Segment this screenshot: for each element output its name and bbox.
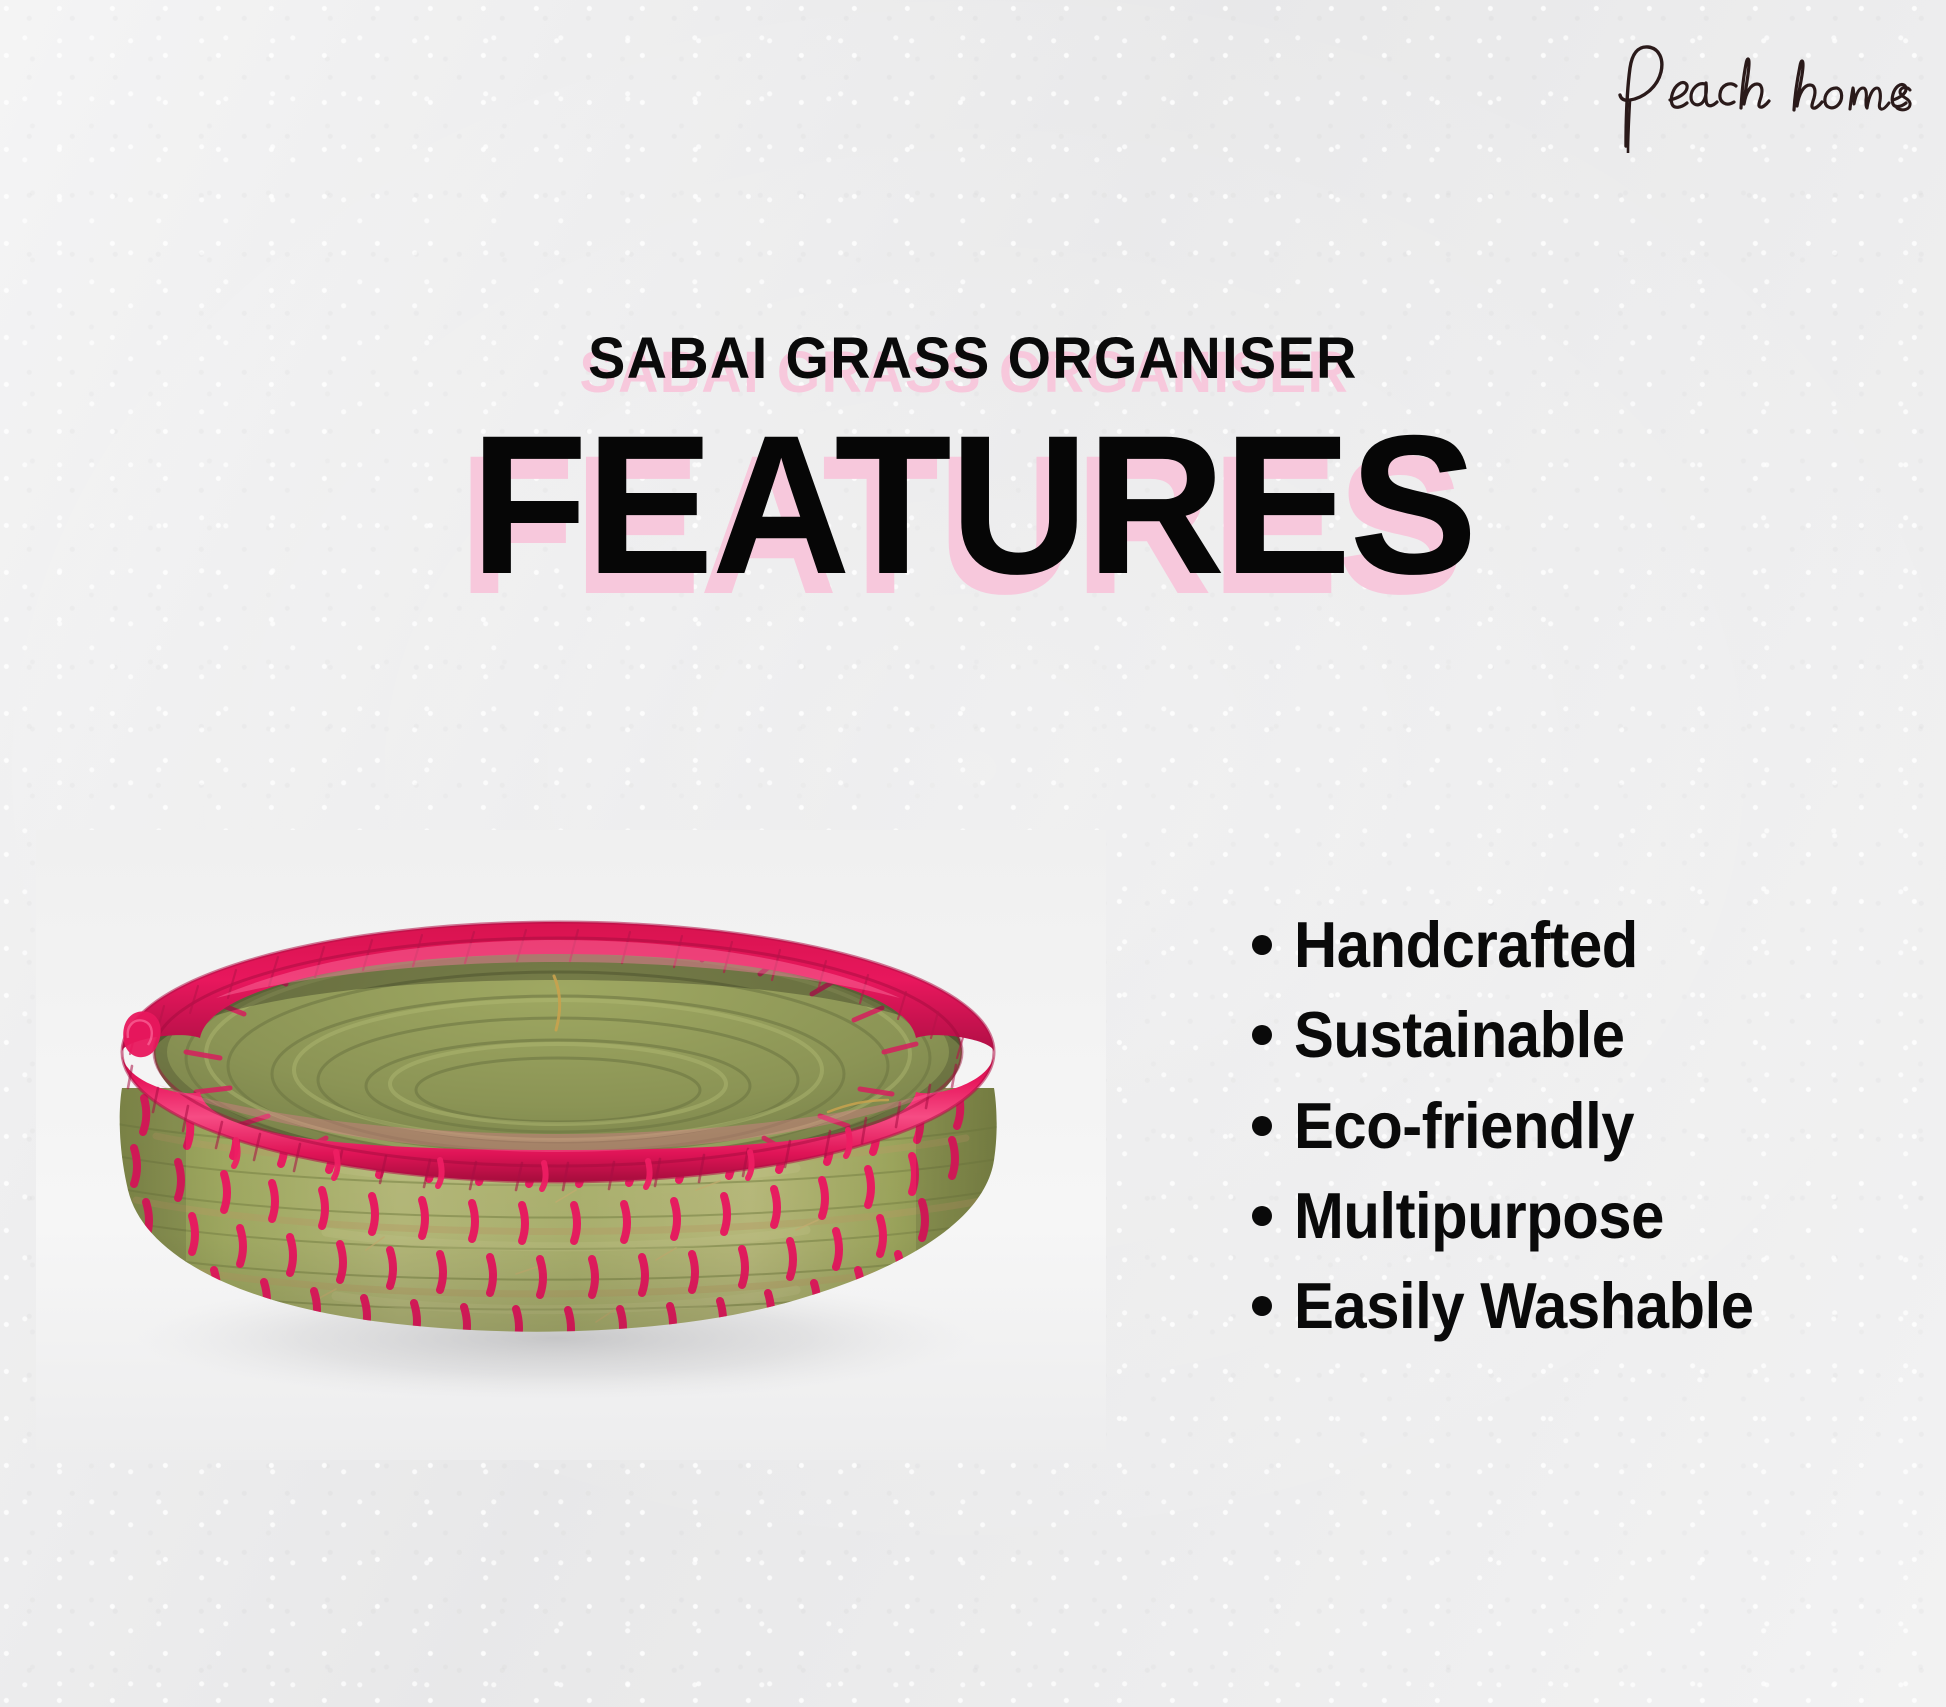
brand-logo bbox=[1586, 38, 1916, 153]
feature-label: Multipurpose bbox=[1294, 1183, 1664, 1249]
feature-label: Sustainable bbox=[1294, 1002, 1625, 1068]
feature-label: Eco-friendly bbox=[1294, 1093, 1634, 1159]
bullet-icon bbox=[1252, 1296, 1272, 1316]
bullet-icon bbox=[1252, 1206, 1272, 1226]
bullet-icon bbox=[1252, 1116, 1272, 1136]
brand-logo-script-icon bbox=[1586, 38, 1916, 153]
sabai-grass-basket-illustration bbox=[36, 830, 1106, 1460]
bullet-icon bbox=[1252, 935, 1272, 955]
page-title: FEATURES bbox=[29, 410, 1917, 600]
features-list: Handcrafted Sustainable Eco-friendly Mul… bbox=[1252, 912, 1794, 1339]
list-item: Multipurpose bbox=[1252, 1183, 1794, 1249]
list-item: Sustainable bbox=[1252, 1002, 1794, 1068]
title-block: SABAI GRASS ORGANISER FEATURES bbox=[0, 330, 1946, 600]
product-image bbox=[36, 830, 1106, 1460]
list-item: Handcrafted bbox=[1252, 912, 1794, 978]
eyebrow-title: SABAI GRASS ORGANISER bbox=[39, 330, 1907, 388]
feature-label: Handcrafted bbox=[1294, 912, 1638, 978]
list-item: Easily Washable bbox=[1252, 1273, 1794, 1339]
marketing-poster: SABAI GRASS ORGANISER FEATURES Handcraft… bbox=[0, 0, 1946, 1707]
list-item: Eco-friendly bbox=[1252, 1093, 1794, 1159]
feature-label: Easily Washable bbox=[1294, 1273, 1754, 1339]
bullet-icon bbox=[1252, 1025, 1272, 1045]
